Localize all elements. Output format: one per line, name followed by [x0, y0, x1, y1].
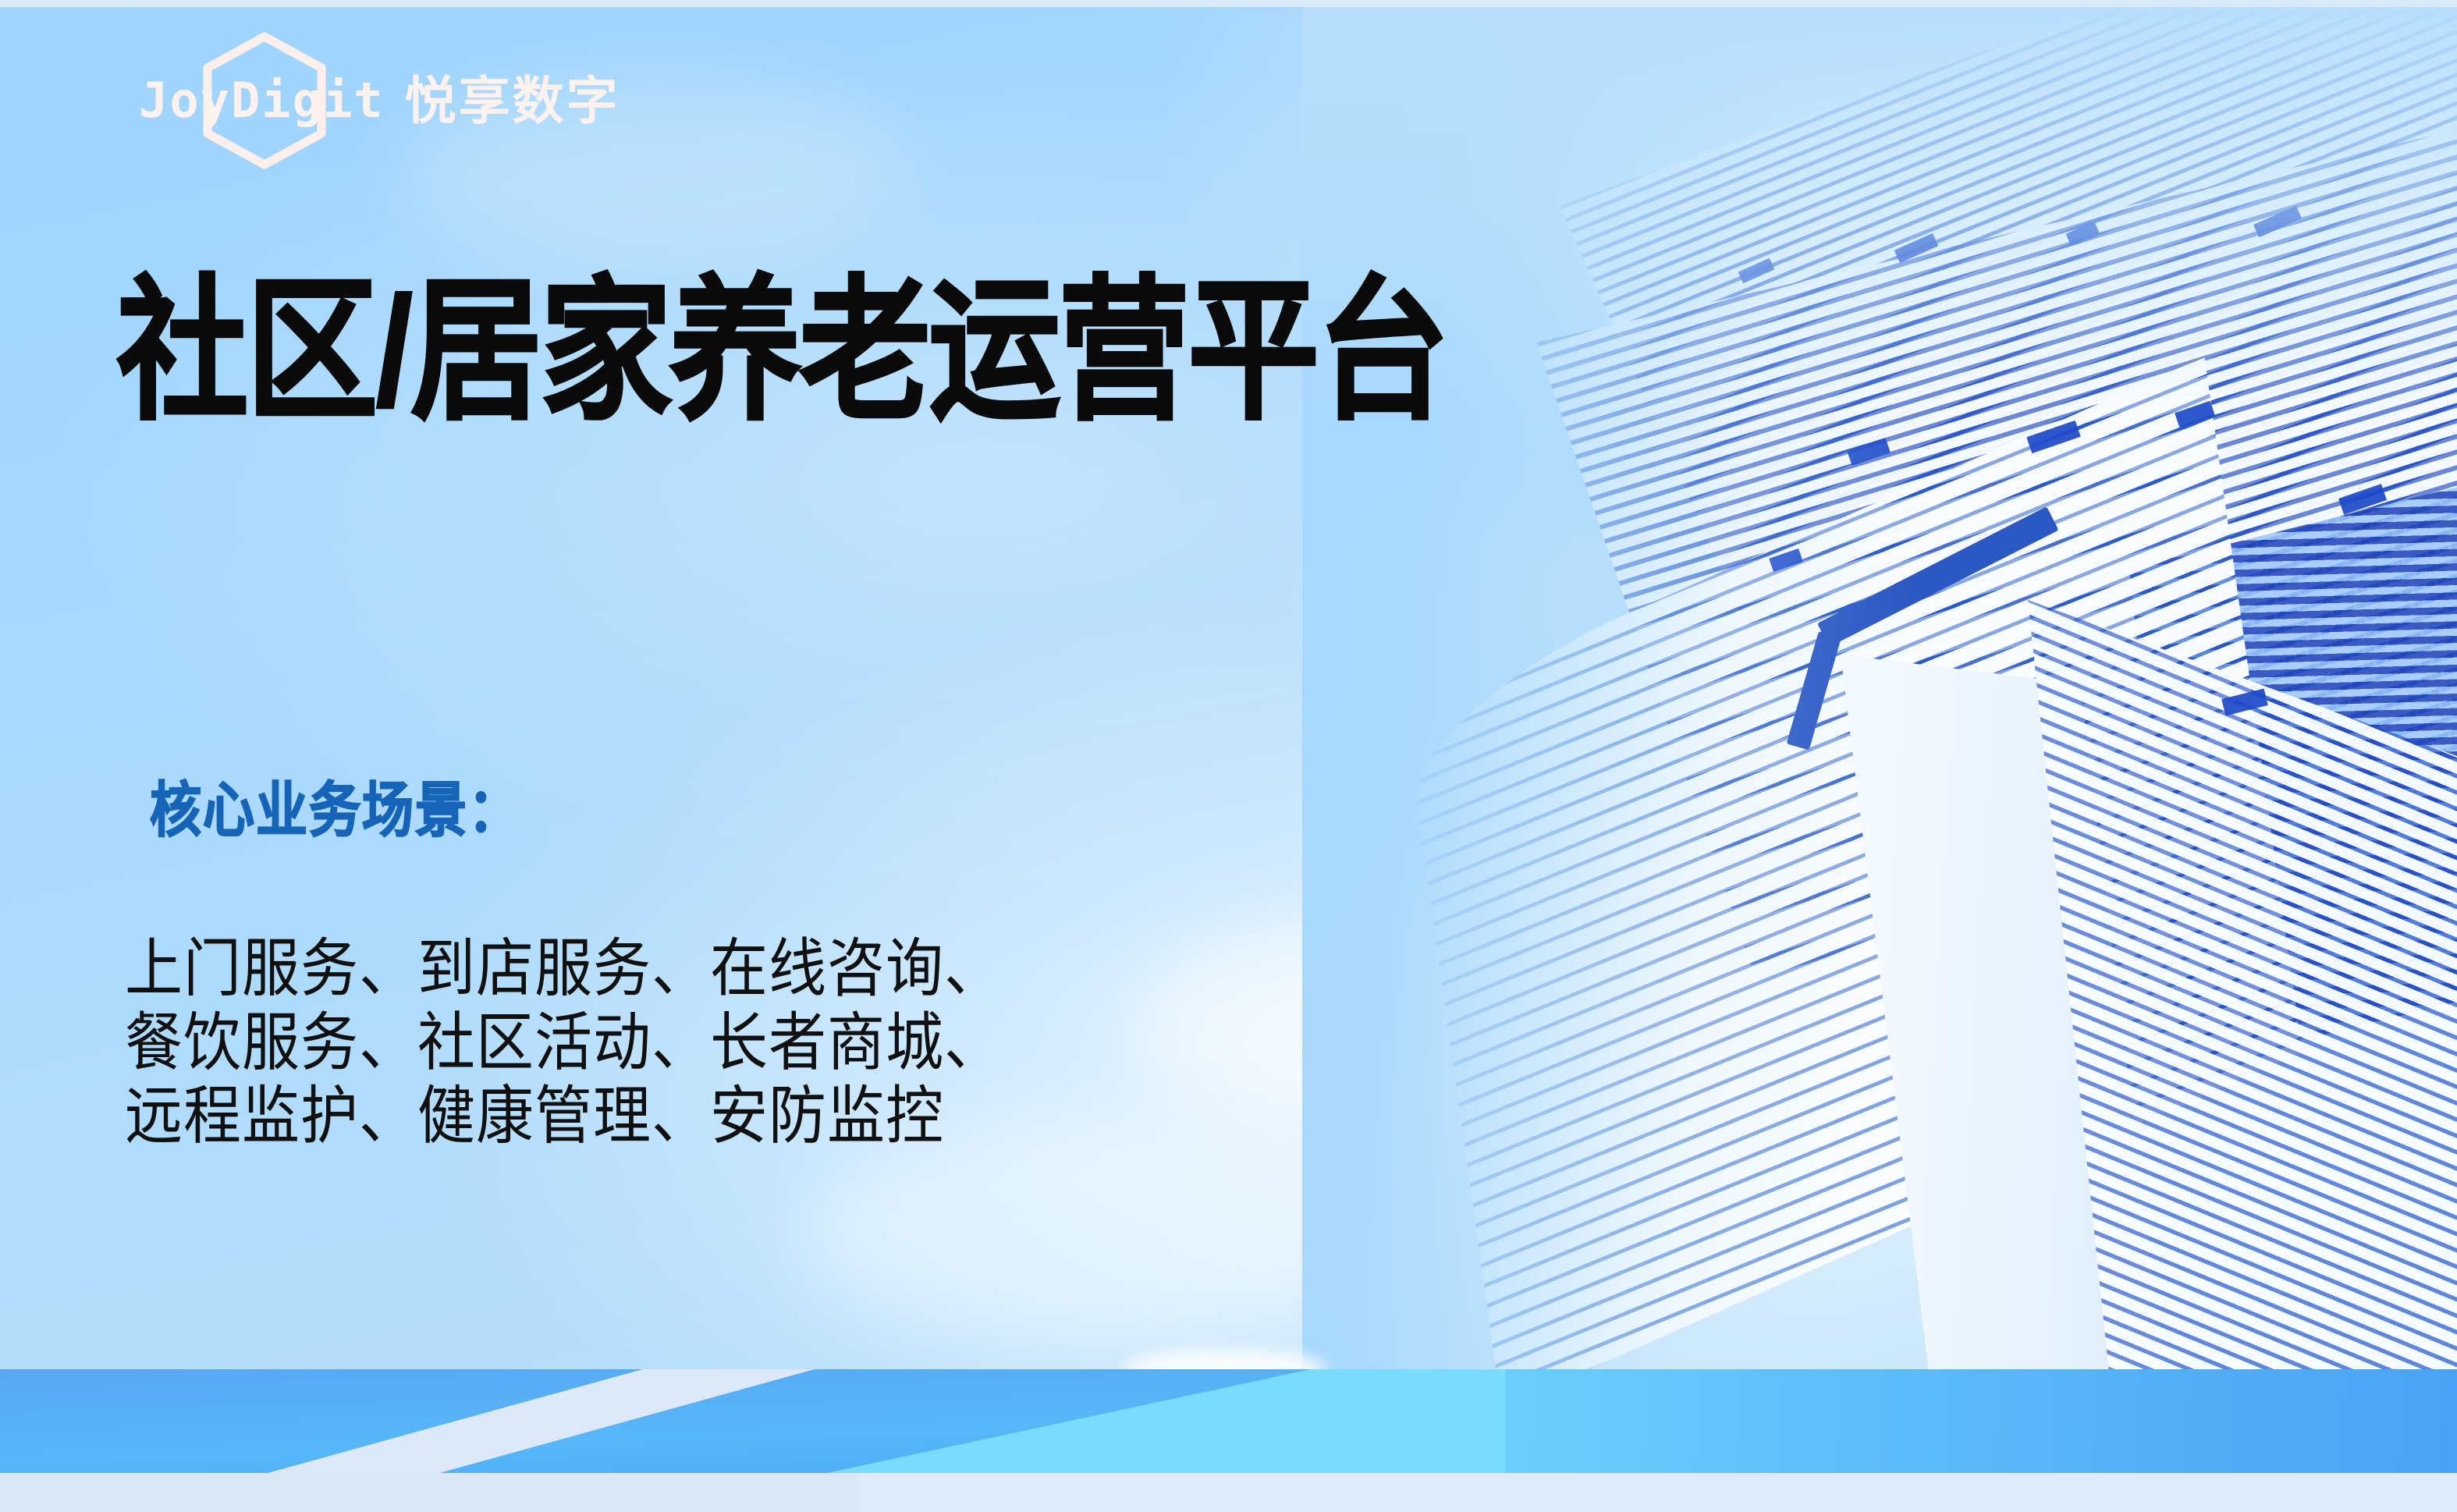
scenario-line: 餐饮服务、社区活动、长者商城、	[125, 1003, 1003, 1084]
top-edge-strip	[0, 0, 2457, 7]
band-cyan-wedge	[827, 1369, 1607, 1473]
slide-canvas: JoyDigit 悦享数字 社区/居家养老运营平台 核心业务场景： 上门服务、到…	[0, 0, 2457, 1512]
skyscraper-photo	[1302, 7, 2457, 1369]
section-heading: 核心业务场景：	[150, 780, 521, 840]
scenario-line: 上门服务、到店服务、在线咨询、	[125, 928, 1003, 1010]
brand-chinese-name: 悦享数字	[405, 75, 620, 126]
scenario-line: 远程监护、健康管理、安防监控	[125, 1076, 1003, 1157]
brand-logo: JoyDigit 悦享数字	[139, 67, 620, 134]
scenario-list: 上门服务、到店服务、在线咨询、 餐饮服务、社区活动、长者商城、 远程监护、健康管…	[125, 928, 1003, 1150]
band-right-gradient	[1506, 1369, 2457, 1473]
bottom-decor-band	[0, 1369, 2457, 1473]
bottom-margin-fill-left	[0, 1473, 858, 1512]
brand-wordmark: JoyDigit	[139, 76, 385, 125]
page-title: 社区/居家养老运营平台	[117, 269, 1447, 433]
band-diagonal-stripe	[234, 1369, 1014, 1473]
